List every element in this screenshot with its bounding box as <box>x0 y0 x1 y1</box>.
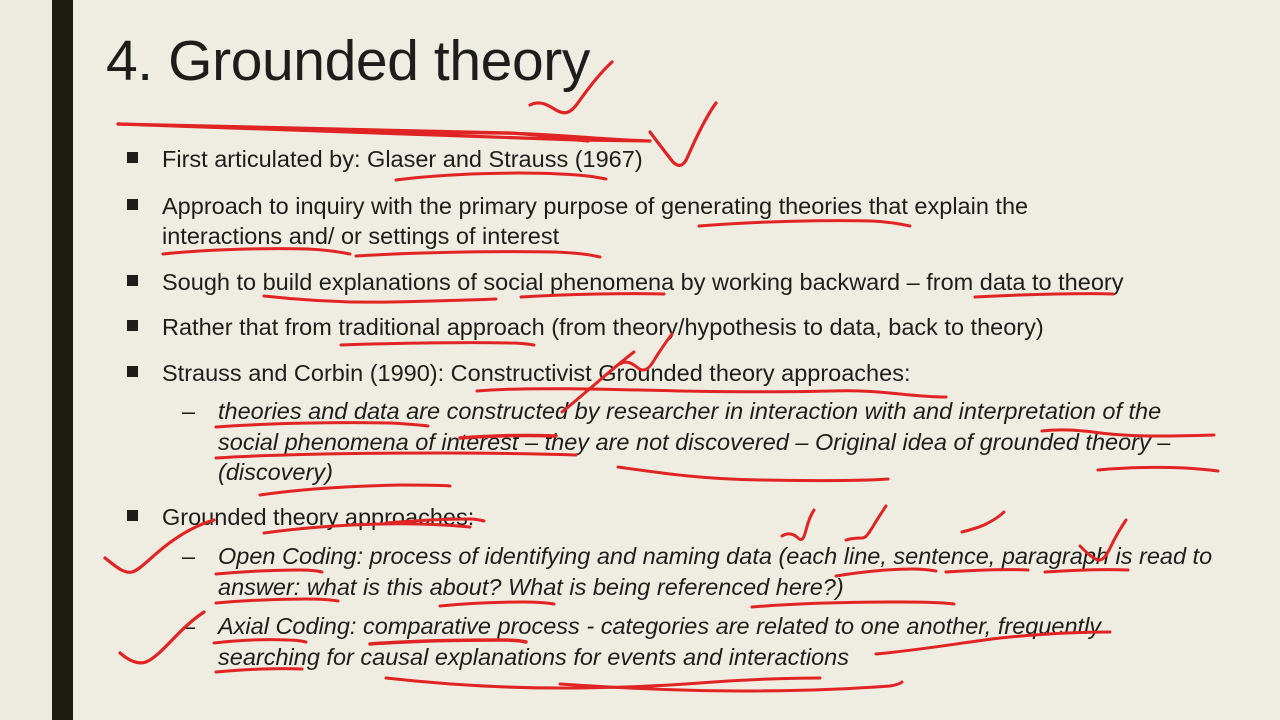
square-bullet-icon <box>127 366 138 377</box>
sub-list-item: – Axial Coding: comparative process - ca… <box>124 611 1234 672</box>
sub-list-item: – Open Coding: process of identifying an… <box>124 541 1234 602</box>
square-bullet-icon <box>127 152 138 163</box>
list-item-label: Approach to inquiry with the primary pur… <box>162 191 1107 252</box>
dash-bullet-icon: – <box>182 611 195 642</box>
list-item-label: Grounded theory approaches: <box>162 502 1234 533</box>
dash-bullet-icon: – <box>182 541 195 572</box>
dash-bullet-icon: – <box>182 396 195 427</box>
left-accent-bar <box>52 0 73 720</box>
square-bullet-icon <box>127 510 138 521</box>
list-item: Rather that from traditional approach (f… <box>124 312 1234 343</box>
list-item: Strauss and Corbin (1990): Constructivis… <box>124 358 1234 389</box>
left-pale-band <box>0 0 52 720</box>
list-item: Grounded theory approaches: <box>124 502 1234 533</box>
list-item: Approach to inquiry with the primary pur… <box>124 191 1234 252</box>
page-title: 4. Grounded theory <box>106 33 590 90</box>
square-bullet-icon <box>127 320 138 331</box>
bullet-list: First articulated by: Glaser and Strauss… <box>124 144 1234 674</box>
sub-list-item-label: Open Coding: process of identifying and … <box>218 541 1216 602</box>
list-item: Sough to build explanations of social ph… <box>124 267 1234 298</box>
square-bullet-icon <box>127 275 138 286</box>
list-item-label: Strauss and Corbin (1990): Constructivis… <box>162 358 1234 389</box>
list-item-label: Sough to build explanations of social ph… <box>162 267 1237 298</box>
square-bullet-icon <box>127 199 138 210</box>
sub-list-item-label: Axial Coding: comparative process - cate… <box>218 611 1178 672</box>
list-item-label: First articulated by: Glaser and Strauss… <box>162 144 1234 175</box>
sub-list-item: – theories and data are constructed by r… <box>124 396 1234 488</box>
slide-canvas: 4. Grounded theory First articulated by:… <box>0 0 1280 720</box>
list-item: First articulated by: Glaser and Strauss… <box>124 144 1234 175</box>
list-item-label: Rather that from traditional approach (f… <box>162 312 1234 343</box>
sub-list-item-label: theories and data are constructed by res… <box>218 396 1218 488</box>
